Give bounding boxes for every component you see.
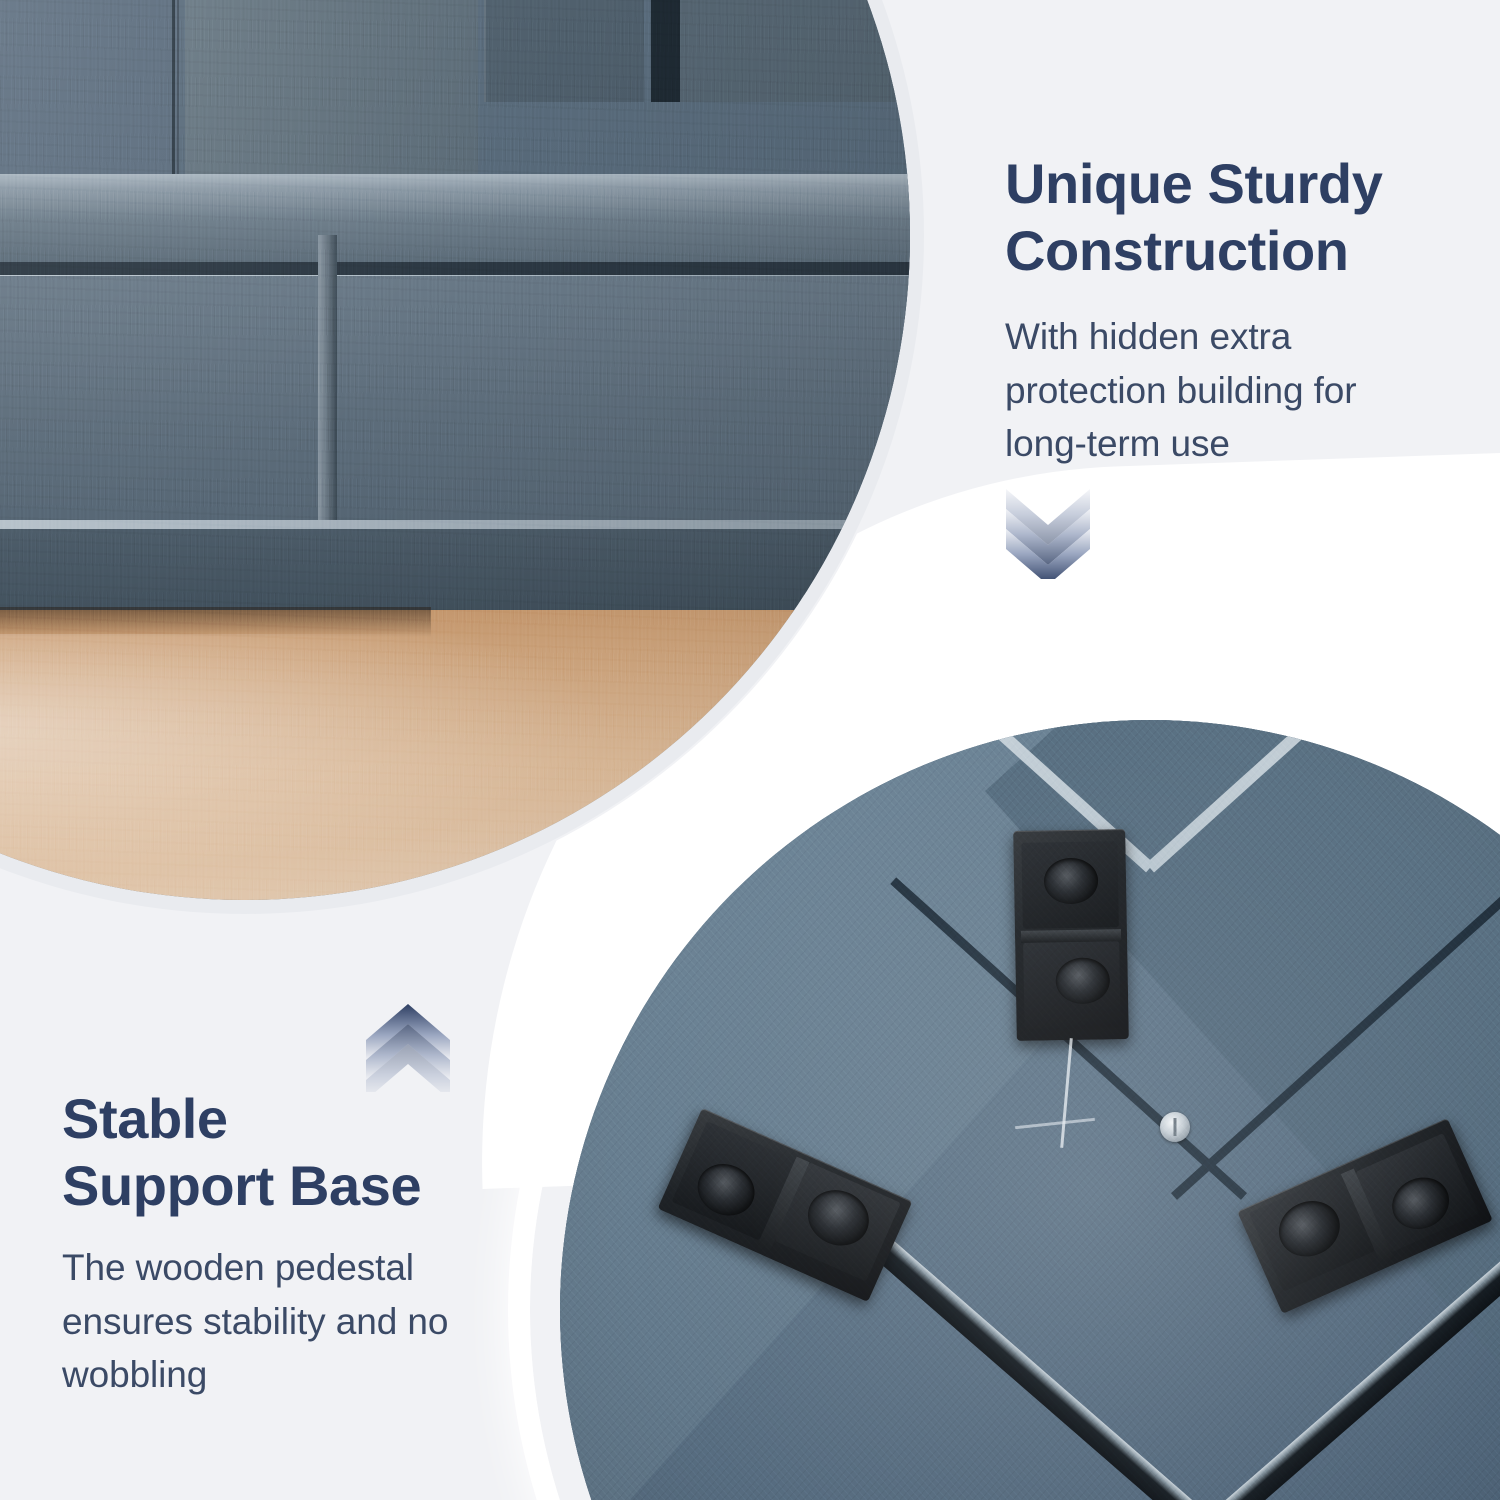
feature-description: With hidden extra protection building fo… (1005, 310, 1475, 470)
feature-heading: Stable Support Base (62, 1085, 532, 1219)
infographic-canvas: Unique Sturdy Construction With hidden e… (0, 0, 1500, 1500)
corner-bracket-image (560, 720, 1500, 1500)
feature-block-stable-support-base: Stable Support Base The wooden pedestal … (62, 1085, 532, 1401)
feature-description: The wooden pedestal ensures stability an… (62, 1241, 532, 1401)
chevron-up-triple-icon (360, 1000, 456, 1092)
feature-heading: Unique Sturdy Construction (1005, 150, 1475, 284)
product-photo-corner-brackets (560, 720, 1500, 1500)
chevron-down-triple-icon (1000, 487, 1096, 579)
feature-block-unique-sturdy-construction: Unique Sturdy Construction With hidden e… (1005, 150, 1475, 470)
photo-vignette (560, 720, 1500, 1500)
